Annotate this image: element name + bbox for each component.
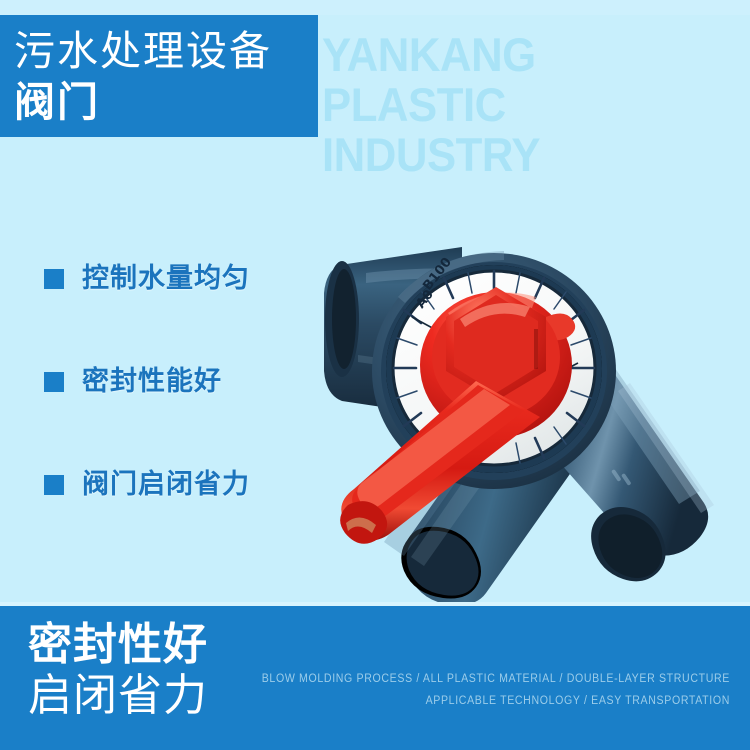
footer-english-line-1: BLOW MOLDING PROCESS / ALL PLASTIC MATER…: [252, 668, 730, 690]
footer-slogan-light: 启闭省力: [28, 672, 208, 720]
footer-slogan-bold: 密封性好: [28, 621, 208, 669]
feature-label: 密封性能好: [82, 367, 222, 397]
feature-label: 控制水量均匀: [82, 264, 250, 294]
feature-label: 阀门启闭省力: [82, 470, 250, 500]
header-title-secondary: 阀门: [14, 79, 100, 125]
footer-english-text: BLOW MOLDING PROCESS / ALL PLASTIC MATER…: [252, 668, 730, 712]
square-bullet-icon: [44, 475, 64, 495]
product-image-valve: B100 A0 A100 B0: [288, 205, 708, 595]
header-title-box: 污水处理设备 阀门: [0, 15, 318, 137]
footer-english-line-2: APPLICABLE TECHNOLOGY / EASY TRANSPORTAT…: [252, 690, 730, 712]
poster-canvas: YANKANG PLASTIC INDUSTRY 污水处理设备 阀门 控制水量均…: [0, 0, 750, 750]
footer-banner: 密封性好 启闭省力 BLOW MOLDING PROCESS / ALL PLA…: [0, 606, 750, 750]
header-title-primary: 污水处理设备: [14, 29, 272, 73]
square-bullet-icon: [44, 372, 64, 392]
brand-watermark: YANKANG PLASTIC INDUSTRY: [322, 30, 722, 180]
square-bullet-icon: [44, 269, 64, 289]
top-strip: [0, 0, 750, 15]
